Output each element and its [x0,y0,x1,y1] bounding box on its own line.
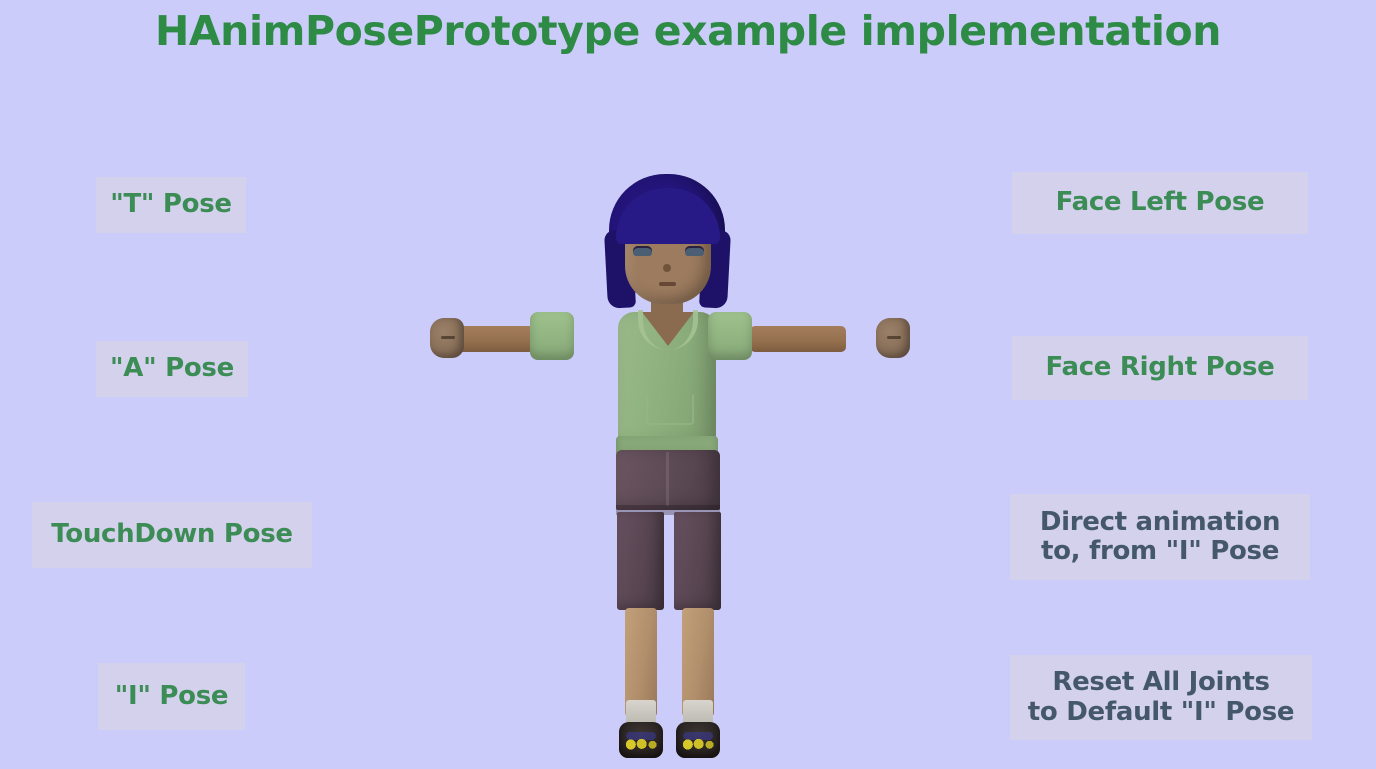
avatar-sleeve-left [530,312,574,360]
pose-button-face-left-pose[interactable]: Face Left Pose [1012,172,1308,234]
avatar-eye-right [685,248,704,256]
avatar-hand-left-crease [441,336,455,339]
pose-button-a-pose[interactable]: "A" Pose [96,341,248,397]
avatar-shoe-left-star [624,738,658,751]
avatar-shoe-right-star [681,738,715,751]
page-title: HAnimPosePrototype example implementatio… [0,8,1376,55]
pose-button-t-pose[interactable]: "T" Pose [96,177,246,233]
avatar-nose [663,264,671,272]
pose-button-touchdown-pose[interactable]: TouchDown Pose [32,502,312,568]
avatar-shorts-leg-right [674,512,721,610]
avatar-sleeve-right [708,312,752,360]
pose-button-direct-animation[interactable]: Direct animation to, from "I" Pose [1010,494,1310,580]
avatar-mouth [659,282,676,286]
avatar-shirt-pocket [646,395,694,425]
pose-button-reset-all-joints[interactable]: Reset All Joints to Default "I" Pose [1010,655,1312,740]
avatar-shorts-seam [666,452,669,506]
avatar-hair-bang-tips [618,226,718,246]
avatar-shorts-leg-left [617,512,664,610]
viewer-canvas: HAnimPosePrototype example implementatio… [0,0,1376,769]
pose-button-face-right-pose[interactable]: Face Right Pose [1012,336,1308,400]
humanoid-avatar[interactable] [420,160,920,760]
avatar-hand-right-crease [887,336,901,339]
pose-button-i-pose[interactable]: "I" Pose [98,663,245,730]
avatar-arm-right [750,326,846,352]
avatar-eye-left [633,248,652,256]
